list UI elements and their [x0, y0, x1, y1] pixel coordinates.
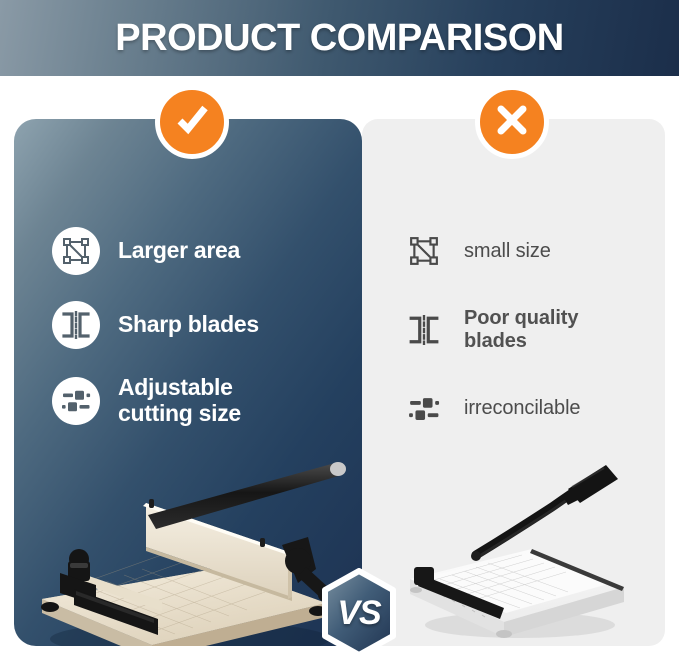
con-panel: small size Poor quality blades: [362, 119, 665, 646]
list-item: small size: [402, 229, 652, 273]
sharp-blades-icon: [402, 308, 446, 352]
list-item-label: small size: [464, 240, 551, 263]
page-title: PRODUCT COMPARISON: [115, 17, 563, 60]
comparison-area: Larger area Sharp blades: [0, 76, 679, 662]
list-item-label: Larger area: [118, 238, 240, 264]
list-item-label: irreconcilable: [464, 397, 580, 420]
pro-badge: [155, 85, 229, 159]
list-item: irreconcilable: [402, 387, 652, 431]
header-banner: PRODUCT COMPARISON: [0, 0, 679, 76]
cross-mark-icon: [492, 100, 532, 145]
con-feature-list: small size Poor quality blades: [402, 229, 652, 465]
con-badge: [475, 85, 549, 159]
sharp-blades-icon: [52, 301, 100, 349]
list-item: Sharp blades: [52, 301, 352, 349]
list-item-label: Adjustable cutting size: [118, 375, 241, 427]
list-item-label: Sharp blades: [118, 312, 259, 338]
pro-feature-list: Larger area Sharp blades: [52, 227, 352, 453]
list-item-label: Poor quality blades: [464, 307, 578, 353]
list-item: Larger area: [52, 227, 352, 275]
pro-product-image: [30, 449, 360, 646]
adjust-sliders-icon: [52, 377, 100, 425]
resize-area-icon: [402, 229, 446, 273]
resize-area-icon: [52, 227, 100, 275]
check-mark-icon: [171, 99, 213, 146]
pro-panel: Larger area Sharp blades: [14, 119, 362, 646]
list-item: Adjustable cutting size: [52, 375, 352, 427]
list-item: Poor quality blades: [402, 307, 652, 353]
adjust-sliders-icon: [402, 387, 446, 431]
vs-label: VS: [316, 568, 402, 658]
con-product-image: [392, 459, 652, 646]
vs-badge: VS: [316, 568, 402, 658]
